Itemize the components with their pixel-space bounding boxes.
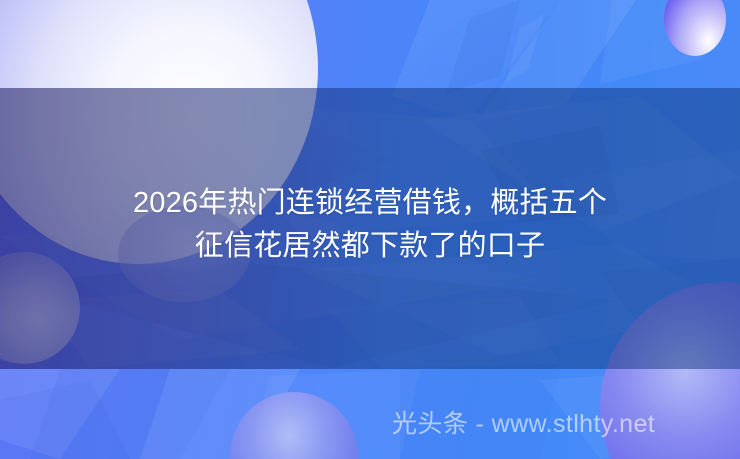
page-title: 2026年热门连锁经营借钱，概括五个 征信花居然都下款了的口子: [0, 182, 740, 268]
title-line-1: 2026年热门连锁经营借钱，概括五个: [0, 182, 740, 225]
site-watermark: 光头条 - www.stlhty.net: [392, 408, 655, 440]
title-line-2: 征信花居然都下款了的口子: [0, 225, 740, 268]
cover-image: 2026年热门连锁经营借钱，概括五个 征信花居然都下款了的口子 光头条 - ww…: [0, 0, 740, 459]
